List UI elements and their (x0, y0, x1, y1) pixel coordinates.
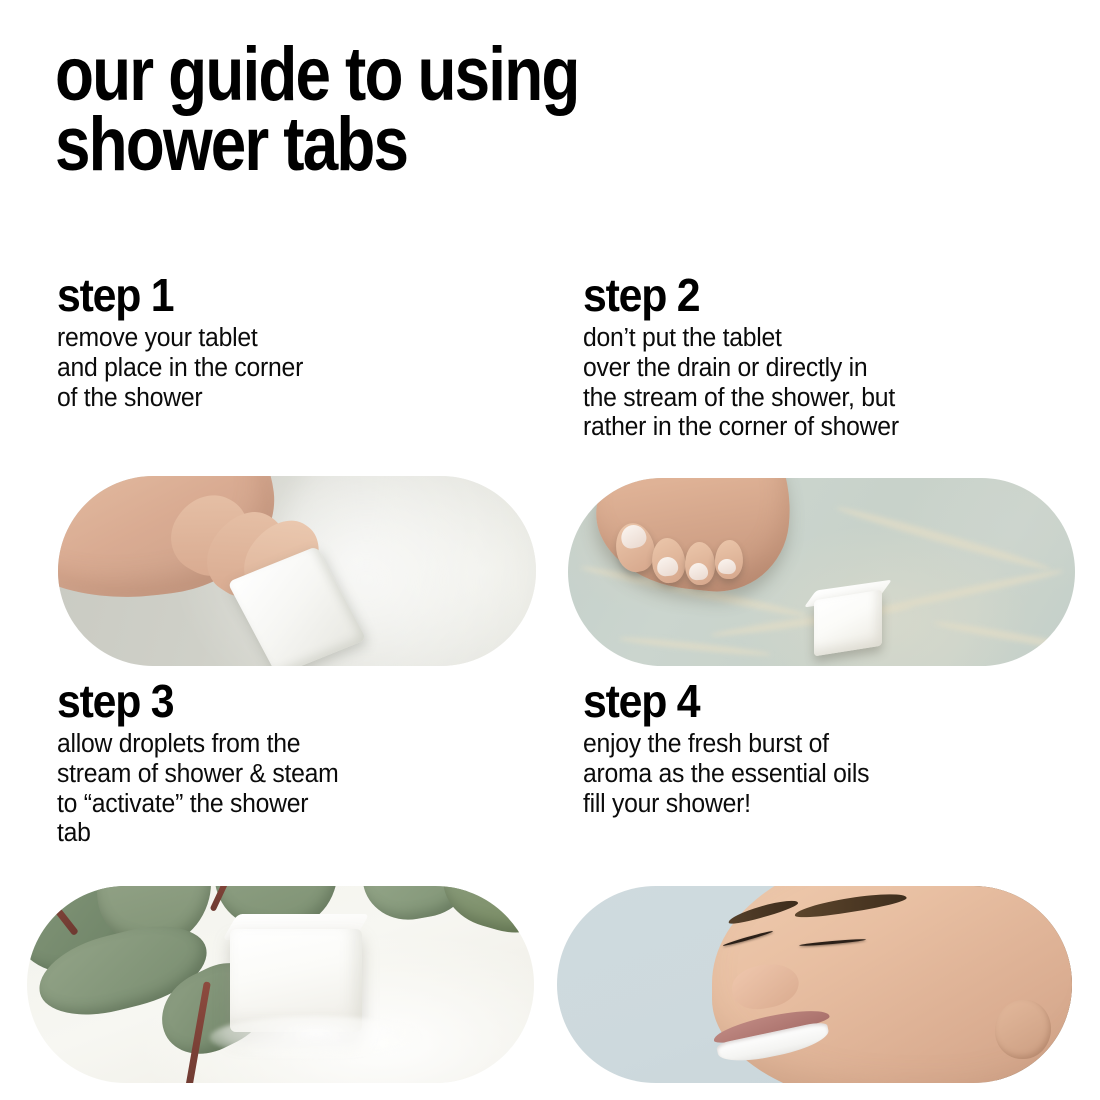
tablet-with-eucalyptus-leaves-photo (27, 886, 534, 1083)
toenail-shape (688, 562, 708, 580)
step-4-body: enjoy the fresh burst of aroma as the es… (583, 730, 1073, 819)
hand-holding-shower-tablet-photo (58, 476, 536, 666)
step-3-text-block: step 3 allow droplets from the stream of… (57, 678, 557, 849)
step-1-text-block: step 1 remove your tablet and place in t… (57, 272, 557, 413)
step-4-heading: step 4 (583, 678, 1053, 724)
step-3-heading: step 3 (57, 678, 522, 724)
smiling-woman-face-photo (557, 886, 1072, 1083)
feet-on-stone-floor-with-tablet-photo (568, 478, 1075, 666)
toenail-shape (717, 558, 735, 574)
step-2-text-block: step 2 don’t put the tablet over the dra… (583, 272, 1088, 443)
step-3-body: allow droplets from the stream of shower… (57, 730, 542, 849)
step-1-heading: step 1 (57, 272, 522, 318)
step-4-text-block: step 4 enjoy the fresh burst of aroma as… (583, 678, 1088, 819)
step-2-heading: step 2 (583, 272, 1053, 318)
step-2-body: don’t put the tablet over the drain or d… (583, 324, 1073, 443)
shower-tablet-shape (814, 589, 882, 656)
step-1-body: remove your tablet and place in the corn… (57, 324, 542, 413)
guide-poster: our guide to using shower tabs step 1 re… (0, 0, 1100, 1100)
